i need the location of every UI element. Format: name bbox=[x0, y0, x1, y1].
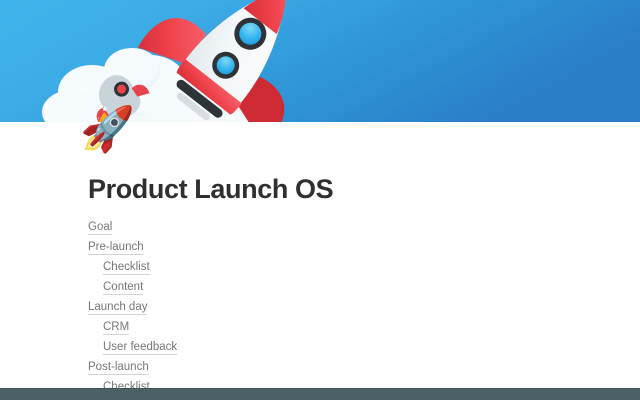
toc-link[interactable]: User feedback bbox=[103, 341, 177, 355]
toc-item[interactable]: CRM bbox=[88, 317, 508, 337]
toc-link[interactable]: CRM bbox=[103, 321, 129, 335]
bottom-bar bbox=[0, 388, 640, 400]
toc-item[interactable]: Launch day bbox=[88, 297, 508, 317]
toc-link[interactable]: Goal bbox=[88, 221, 112, 235]
toc-link[interactable]: Launch day bbox=[88, 301, 147, 315]
toc-item[interactable]: Pre-launch bbox=[88, 237, 508, 257]
toc-link[interactable]: Pre-launch bbox=[88, 241, 144, 255]
toc-item[interactable]: Content bbox=[88, 277, 508, 297]
toc-item[interactable]: Goal bbox=[88, 217, 508, 237]
toc-item[interactable]: User feedback bbox=[88, 337, 508, 357]
page-root: 🚀 Product Launch OS GoalPre-launchCheckl… bbox=[0, 0, 640, 400]
page-title[interactable]: Product Launch OS bbox=[88, 172, 333, 206]
toc-item[interactable]: Checklist bbox=[88, 257, 508, 277]
toc-item[interactable]: Post-launch bbox=[88, 357, 508, 377]
toc-link[interactable]: Checklist bbox=[103, 261, 150, 275]
toc-link[interactable]: Content bbox=[103, 281, 143, 295]
table-of-contents: GoalPre-launchChecklistContentLaunch day… bbox=[88, 217, 508, 397]
rocket-emoji[interactable]: 🚀 bbox=[80, 104, 132, 156]
toc-link[interactable]: Post-launch bbox=[88, 361, 149, 375]
